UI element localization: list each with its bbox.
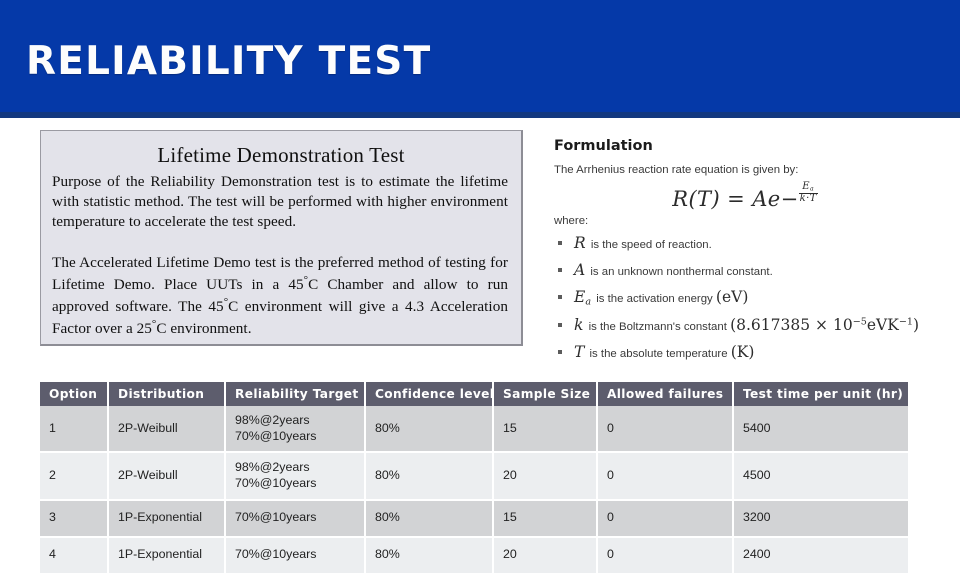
column-header-confidence-level: Confidence level	[365, 382, 493, 406]
cell-sample-size: 15	[493, 500, 597, 537]
table-row: 2 2P-Weibull 98%@2years 70%@10years 80% …	[40, 452, 908, 499]
accelerated-text-part-4: C environment.	[156, 321, 251, 338]
panel-heading: Lifetime Demonstration Test	[41, 143, 521, 168]
boltzmann-mantissa: 8.617385	[736, 316, 810, 334]
page-title: RELIABILITY TEST	[26, 42, 431, 81]
equation-exponent-subscript: a	[810, 186, 814, 193]
cell-option: 1	[40, 406, 108, 452]
equation-fraction: Eak·T	[799, 182, 818, 205]
equation-equals: =	[727, 187, 745, 211]
cell-reliability-target: 98%@2years 70%@10years	[225, 406, 365, 452]
list-item: Ea is the activation energy (eV)	[554, 288, 936, 309]
cell-allowed-failures: 0	[597, 500, 733, 537]
variable-definitions-list: R is the speed of reaction. A is an unkn…	[554, 234, 936, 362]
column-header-sample-size: Sample Size	[493, 382, 597, 406]
cell-option: 4	[40, 537, 108, 574]
equation-lhs: R(T)	[672, 187, 720, 211]
equation-coefficient: A	[752, 187, 768, 211]
cell-reliability-target: 98%@2years 70%@10years	[225, 452, 365, 499]
definition-text: is the absolute temperature	[590, 348, 728, 360]
equation-exponent-denominator: k·T	[799, 194, 818, 205]
boltzmann-base: 10	[833, 316, 853, 334]
symbol-Ea: Ea	[574, 288, 593, 306]
lifetime-demonstration-test-panel: Lifetime Demonstration Test Purpose of t…	[40, 130, 523, 346]
cell-confidence-level: 80%	[365, 537, 493, 574]
reliability-options-table: Option Distribution Reliability Target C…	[40, 382, 908, 575]
cell-test-time: 5400	[733, 406, 908, 452]
formulation-heading: Formulation	[554, 138, 936, 154]
multiplication-icon: ×	[815, 316, 828, 334]
cell-allowed-failures: 0	[597, 452, 733, 499]
column-header-test-time: Test time per unit (hr)	[733, 382, 908, 406]
definition-text: is the speed of reaction.	[591, 239, 712, 251]
cell-test-time: 4500	[733, 452, 908, 499]
symbol-Ea-subscript: a	[585, 296, 591, 307]
boltzmann-exponent: −5	[853, 316, 867, 327]
cell-allowed-failures: 0	[597, 406, 733, 452]
table-row: 1 2P-Weibull 98%@2years 70%@10years 80% …	[40, 406, 908, 452]
cell-distribution: 1P-Exponential	[108, 537, 225, 574]
purpose-paragraph: Purpose of the Reliability Demonstration…	[52, 172, 508, 233]
cell-confidence-level: 80%	[365, 452, 493, 499]
cell-distribution: 2P-Weibull	[108, 452, 225, 499]
cell-test-time: 2400	[733, 537, 908, 574]
cell-option: 2	[40, 452, 108, 499]
cell-confidence-level: 80%	[365, 406, 493, 452]
column-header-allowed-failures: Allowed failures	[597, 382, 733, 406]
symbol-A: A	[574, 261, 587, 279]
column-header-distribution: Distribution	[108, 382, 225, 406]
column-header-option: Option	[40, 382, 108, 406]
cell-sample-size: 20	[493, 452, 597, 499]
symbol-k: k	[574, 316, 585, 334]
table-row: 4 1P-Exponential 70%@10years 80% 20 0 24…	[40, 537, 908, 574]
cell-allowed-failures: 0	[597, 537, 733, 574]
cell-sample-size: 15	[493, 406, 597, 452]
cell-confidence-level: 80%	[365, 500, 493, 537]
definition-text: is the activation energy	[596, 293, 713, 305]
cell-reliability-target: 70%@10years	[225, 500, 365, 537]
symbol-T: T	[574, 343, 586, 361]
boltzmann-constant-value: (8.617385 × 10−5eVK−1)	[730, 316, 919, 334]
table-header: Option Distribution Reliability Target C…	[40, 382, 908, 406]
definition-text: is an unknown nonthermal constant.	[590, 266, 772, 278]
activation-energy-units: (eV)	[716, 288, 748, 306]
column-header-reliability-target: Reliability Target	[225, 382, 365, 406]
table-header-row: Option Distribution Reliability Target C…	[40, 382, 908, 406]
cell-reliability-target: 70%@10years	[225, 537, 365, 574]
arrhenius-equation: R(T) = Ae−Eak·T	[554, 180, 936, 213]
cell-test-time: 3200	[733, 500, 908, 537]
definition-text: is the Boltzmann's constant	[589, 321, 727, 333]
cell-distribution: 1P-Exponential	[108, 500, 225, 537]
page-banner: RELIABILITY TEST	[0, 0, 960, 118]
table-body: 1 2P-Weibull 98%@2years 70%@10years 80% …	[40, 406, 908, 574]
symbol-R: R	[574, 234, 588, 252]
boltzmann-units: eVK	[867, 316, 899, 334]
cell-distribution: 2P-Weibull	[108, 406, 225, 452]
where-label: where:	[554, 215, 936, 227]
cell-sample-size: 20	[493, 537, 597, 574]
list-item: R is the speed of reaction.	[554, 234, 936, 253]
formulation-section: Formulation The Arrhenius reaction rate …	[554, 138, 936, 369]
list-item: A is an unknown nonthermal constant.	[554, 261, 936, 280]
list-item: k is the Boltzmann's constant (8.617385 …	[554, 316, 936, 335]
table-row: 3 1P-Exponential 70%@10years 80% 15 0 32…	[40, 500, 908, 537]
accelerated-lifetime-paragraph: The Accelerated Lifetime Demo test is th…	[52, 253, 508, 340]
equation-base: e	[768, 187, 781, 211]
cell-option: 3	[40, 500, 108, 537]
temperature-units: (K)	[731, 343, 755, 361]
arrhenius-intro-text: The Arrhenius reaction rate equation is …	[554, 164, 936, 176]
boltzmann-units-exponent: −1	[899, 316, 913, 327]
list-item: T is the absolute temperature (K)	[554, 343, 936, 362]
equation-minus-sign: −	[781, 187, 799, 211]
